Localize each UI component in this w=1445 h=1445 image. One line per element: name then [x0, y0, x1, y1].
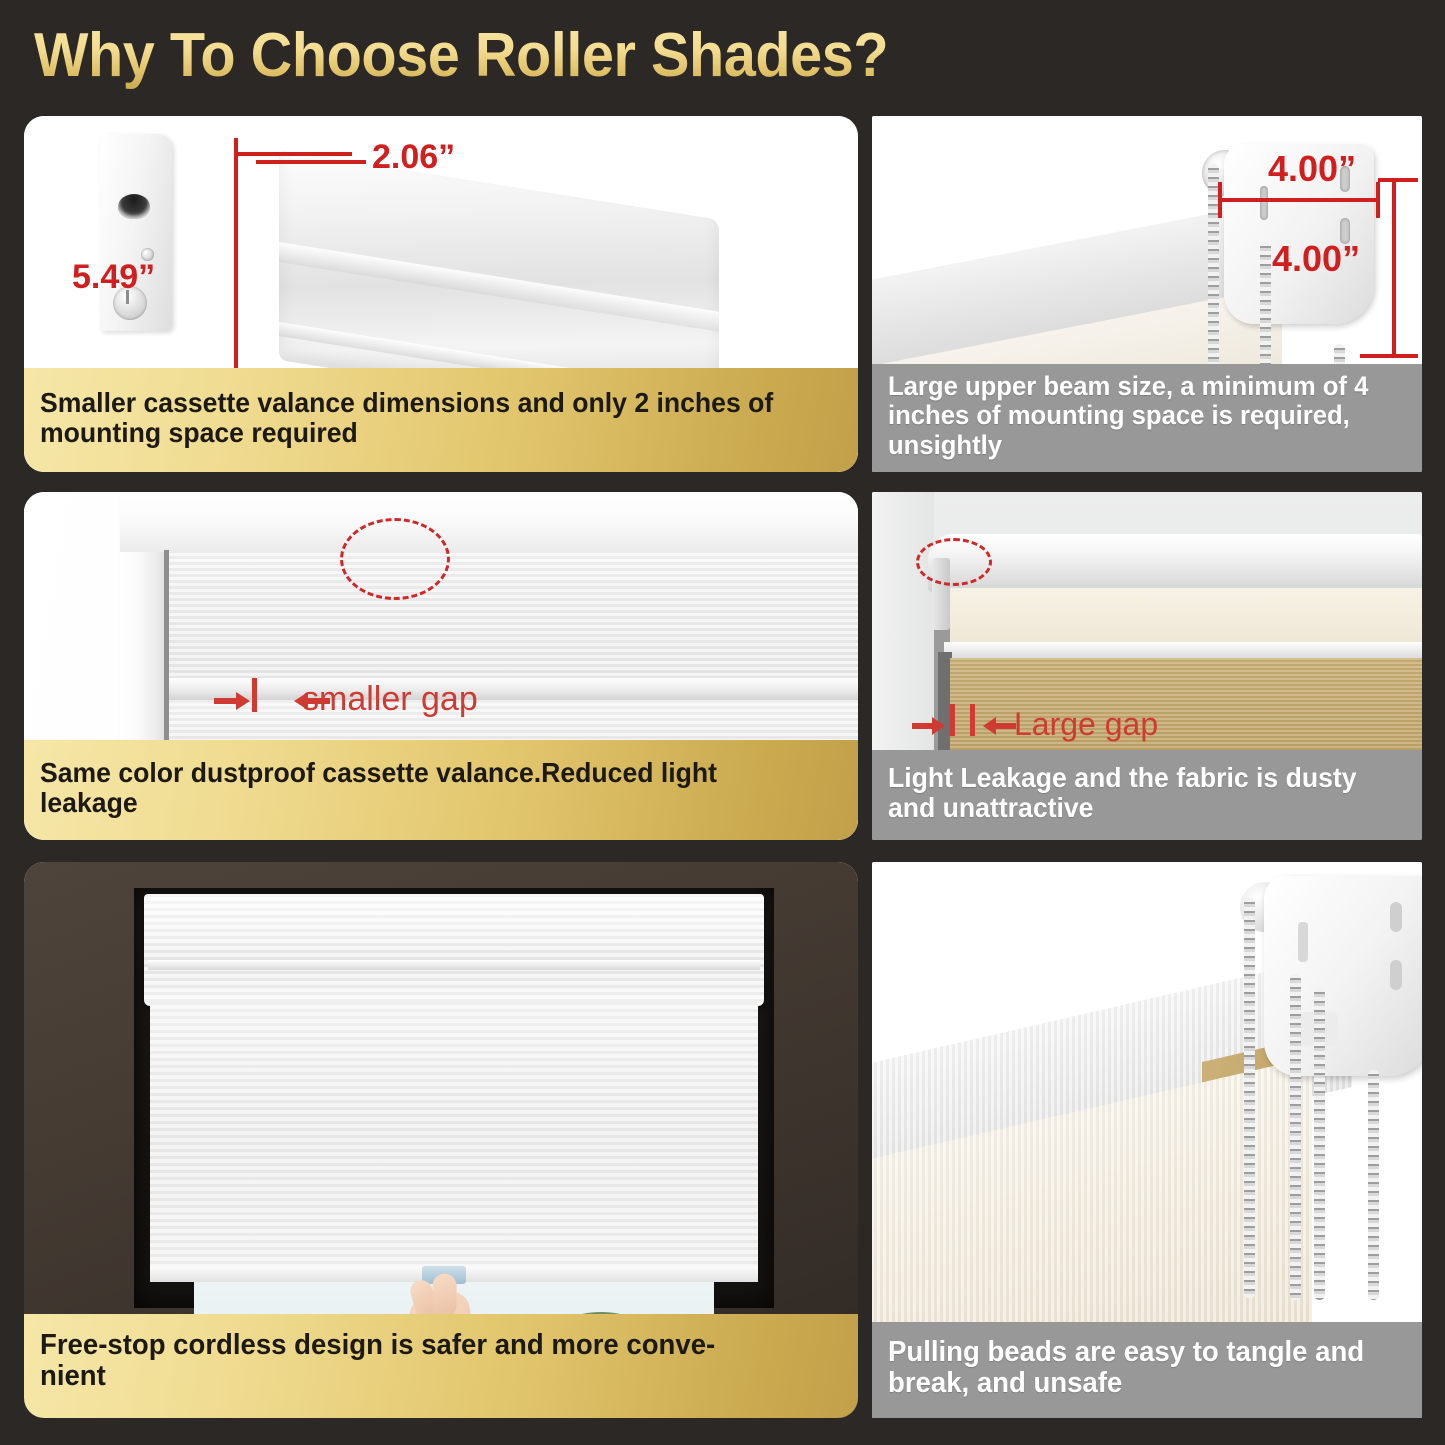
beam-width-tick-right — [1376, 182, 1380, 218]
upper-beam — [928, 534, 1422, 592]
beam-height-label: 4.00” — [1272, 238, 1360, 280]
shade-fabric — [150, 1002, 758, 1274]
header-bar: Why To Choose Roller Shades? — [0, 0, 1445, 112]
mounting-bracket — [1264, 876, 1422, 1076]
panel-pulling-beads: Pulling beads are easy to tangle and bre… — [872, 862, 1422, 1418]
beam-width-tick-left — [1218, 182, 1222, 218]
beam-width-dim-line — [1220, 198, 1380, 202]
panel-2-caption-text: Large upper beam size, a minimum of 4 in… — [888, 372, 1380, 459]
highlight-circle-icon — [916, 538, 992, 586]
gap-arrows-icon — [214, 684, 334, 724]
gap-arrows-icon — [912, 710, 1020, 748]
valance-end-cap — [100, 134, 172, 331]
panel-3-caption-text: Same color dustproof cassette valance.Re… — [40, 758, 802, 818]
panel-4-caption: Light Leakage and the fabric is dusty an… — [872, 750, 1422, 840]
bead-chain-front — [1244, 898, 1255, 1298]
cassette-valance — [144, 894, 764, 1006]
panel-4-caption-text: Light Leakage and the fabric is dusty an… — [888, 763, 1380, 823]
width-dim-line — [234, 152, 352, 156]
width-dim-arrow — [256, 160, 366, 164]
page-title: Why To Choose Roller Shades? — [34, 20, 888, 91]
width-dimension-label: 2.06” — [372, 138, 455, 177]
bead-chain-middle — [1290, 974, 1301, 1300]
gap-marker — [252, 678, 257, 712]
bead-chain-tail — [1368, 1070, 1379, 1300]
gap-label: Large gap — [1014, 706, 1158, 743]
panel-light-leakage: Large gap Light Leakage and the fabric i… — [872, 492, 1422, 840]
panel-5-caption-line-2: nient — [40, 1361, 802, 1392]
panel-2-caption: Large upper beam size, a minimum of 4 in… — [872, 364, 1422, 472]
panel-5-caption: Free-stop cordless design is safer and m… — [24, 1314, 858, 1418]
window-trim-top — [120, 492, 858, 552]
panel-dustproof-valance: smaller gap Same color dustproof cassett… — [24, 492, 858, 840]
highlight-circle-icon — [340, 518, 450, 600]
beam-width-label: 4.00” — [1268, 148, 1356, 190]
beam-height-tick-bottom — [1360, 354, 1418, 358]
gap-marker-a — [950, 704, 955, 736]
cream-fabric-band — [950, 588, 1422, 646]
beam-lip — [944, 642, 1422, 658]
panel-1-caption: Smaller cassette valance dimensions and … — [24, 368, 858, 472]
beam-height-tick-top — [1378, 178, 1418, 182]
panel-1-caption-text: Smaller cassette valance dimensions and … — [40, 388, 802, 448]
panel-cordless-design: Free-stop cordless design is safer and m… — [24, 862, 858, 1418]
panel-6-caption-text: Pulling beads are easy to tangle and bre… — [888, 1337, 1380, 1400]
panel-large-beam: 4.00” 4.00” Large upper beam size, a min… — [872, 116, 1422, 472]
panel-6-caption: Pulling beads are easy to tangle and bre… — [872, 1322, 1422, 1418]
gap-marker-b — [970, 704, 975, 736]
height-dimension-label: 5.49” — [72, 258, 155, 297]
panel-3-caption: Same color dustproof cassette valance.Re… — [24, 740, 858, 840]
panel-smaller-cassette: 2.06” 5.49” Smaller cassette valance dim… — [24, 116, 858, 472]
panel-5-caption-line-1: Free-stop cordless design is safer and m… — [40, 1330, 802, 1361]
cord-hole-icon — [118, 194, 150, 219]
bead-chain-rear — [1314, 988, 1325, 1300]
beam-height-dim-line — [1392, 178, 1396, 358]
